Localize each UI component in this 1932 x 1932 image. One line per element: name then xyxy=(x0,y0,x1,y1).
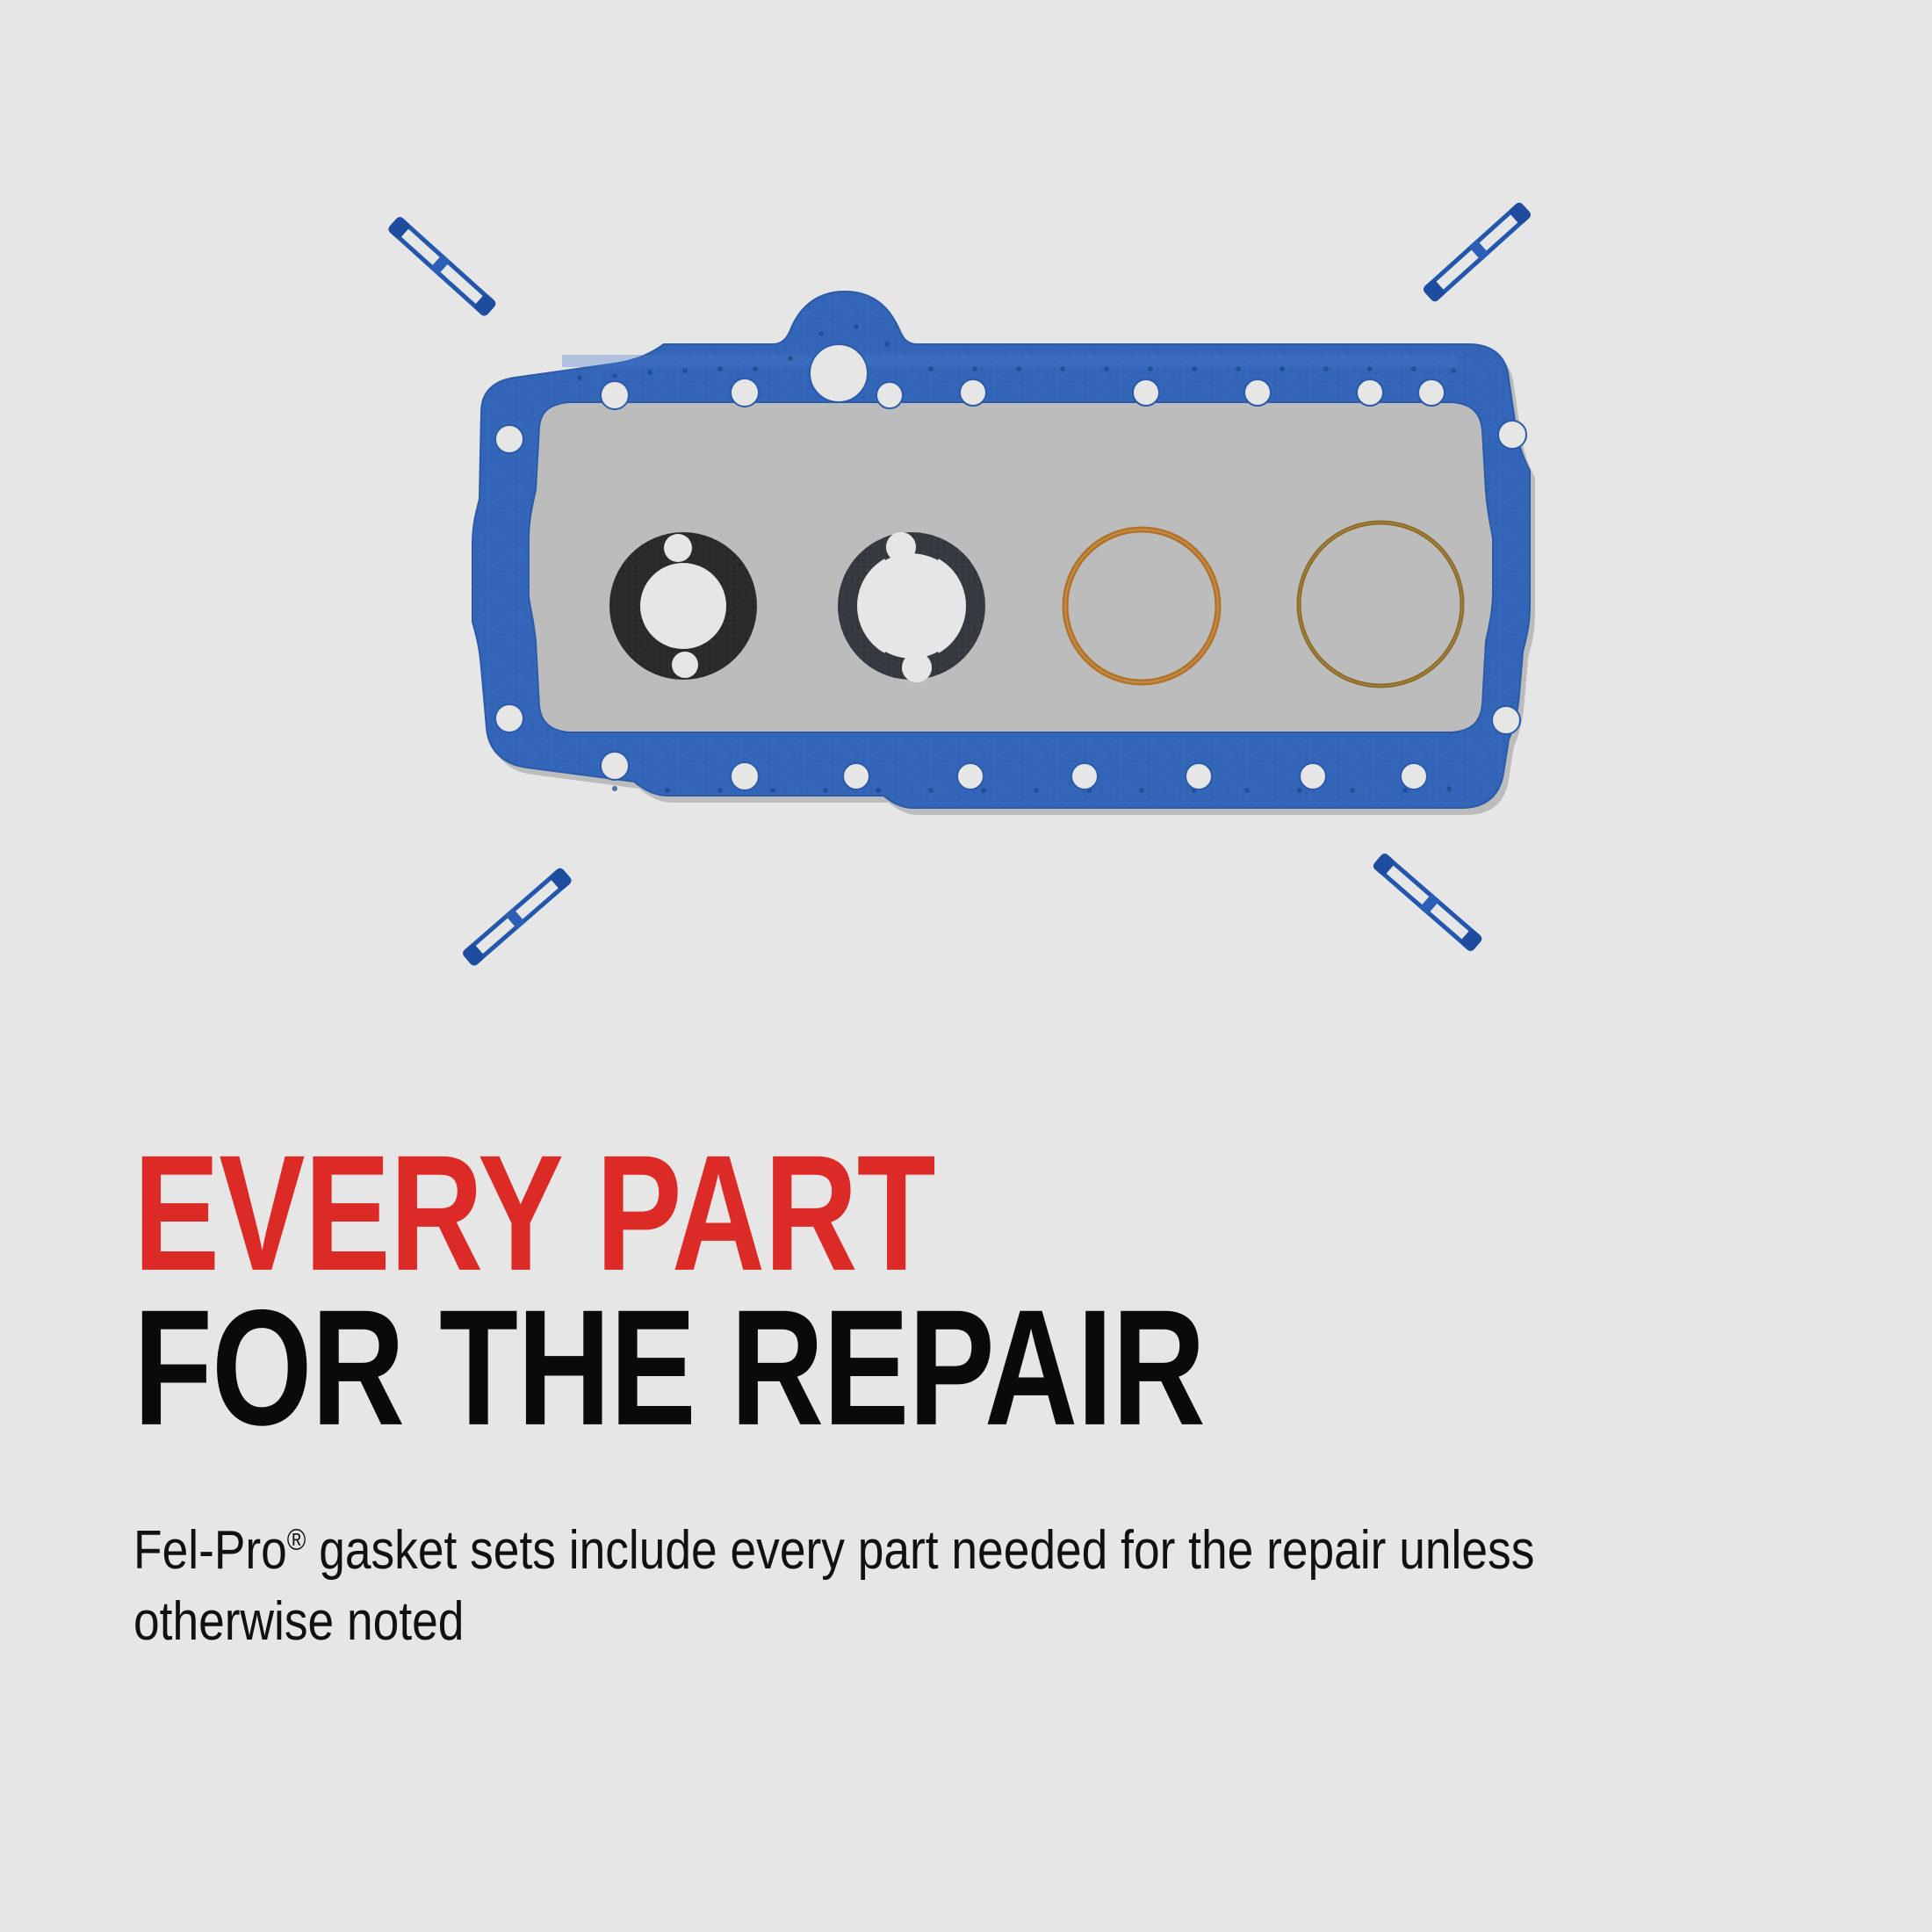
seal-strip-bottom-left xyxy=(461,867,573,968)
subcopy-paragraph: Fel-Pro® gasket sets include every part … xyxy=(133,1516,1568,1657)
washer-black-thick xyxy=(609,532,757,680)
seal-strip-top-left xyxy=(386,215,497,318)
headline-line-1: EVERY PART xyxy=(133,1142,1468,1283)
seal-strip-bottom-right xyxy=(1372,852,1484,953)
subcopy-rest: gasket sets include every part needed fo… xyxy=(133,1520,1534,1652)
gasket-center-large-hole xyxy=(810,344,868,402)
headline-line-2: FOR THE REPAIR xyxy=(133,1296,1468,1438)
copy-block: EVERY PART FOR THE REPAIR Fel-Pro® gaske… xyxy=(133,1142,1802,1658)
product-image xyxy=(0,0,1932,1080)
seal-strip-top-right xyxy=(1422,201,1532,304)
advertisement-canvas: EVERY PART FOR THE REPAIR Fel-Pro® gaske… xyxy=(0,0,1932,1932)
subcopy-brand: Fel-Pro xyxy=(133,1520,287,1581)
oil-pan-gasket-set-illustration xyxy=(0,0,1932,1080)
registered-trademark-mark: ® xyxy=(287,1524,306,1557)
